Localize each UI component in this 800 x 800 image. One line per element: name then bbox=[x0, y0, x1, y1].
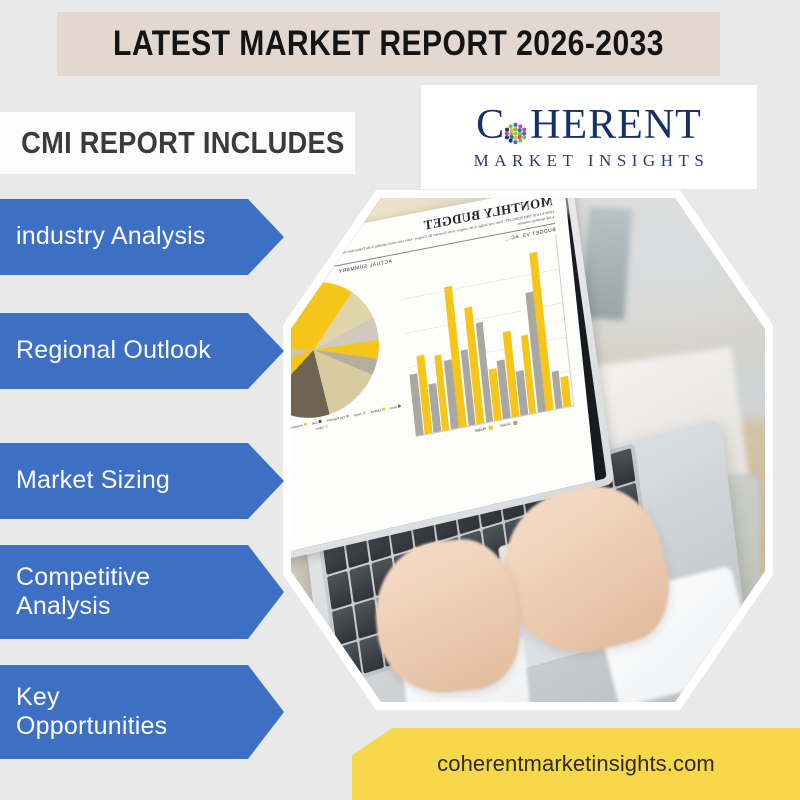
pie-legend-item: Food bbox=[354, 412, 362, 417]
brand-logo-card: C bbox=[421, 85, 757, 189]
brand-logo-tagline: MARKET INSIGHTS bbox=[469, 151, 710, 171]
pie-legend-item: Other bbox=[315, 425, 323, 431]
dotted-globe-icon bbox=[502, 113, 529, 140]
photo-scene: MONTHLY BUDGET HOW TO USE THIS TEMPLATE:… bbox=[291, 198, 765, 702]
brand-logo-wordmark-rest: HERENT bbox=[530, 104, 702, 146]
sidebar-item-key-opportunities[interactable]: Key Opportunities bbox=[0, 665, 284, 759]
pie-legend-item: Rent bbox=[389, 405, 396, 410]
sidebar-item-label: Regional Outlook bbox=[16, 336, 211, 366]
sidebar-item-industry-analysis[interactable]: industry Analysis bbox=[0, 199, 284, 275]
sidebar-item-label: Competitive Analysis bbox=[16, 563, 150, 622]
sidebar-item-label: Market Sizing bbox=[16, 466, 170, 496]
hero-photo: MONTHLY BUDGET HOW TO USE THIS TEMPLATE:… bbox=[283, 190, 773, 710]
sidebar-item-market-sizing[interactable]: Market Sizing bbox=[0, 443, 284, 519]
brand-logo-letter-c: C bbox=[476, 104, 505, 146]
sidebar-item-label: industry Analysis bbox=[16, 222, 206, 252]
pie-legend-item: Gas bbox=[311, 421, 317, 426]
sidebar-item-competitive-analysis[interactable]: Competitive Analysis bbox=[0, 545, 284, 639]
pie-legend-item: Utilities bbox=[370, 408, 380, 414]
pie-legend-item: Car Payment bbox=[326, 415, 345, 423]
hero-photo-clip: MONTHLY BUDGET HOW TO USE THIS TEMPLATE:… bbox=[291, 198, 765, 702]
page-title: LATEST MARKET REPORT 2026-2033 bbox=[103, 12, 673, 76]
sidebar-item-regional-outlook[interactable]: Regional Outlook bbox=[0, 313, 284, 389]
sidebar-item-label: Key Opportunities bbox=[16, 683, 167, 742]
brand-logo-wordmark: C bbox=[476, 104, 702, 146]
bar-legend-actual: Actual bbox=[500, 422, 510, 428]
bar-chart: BUDGET VS. AC... bbox=[397, 227, 579, 489]
section-banner-label: CMI REPORT INCLUDES bbox=[0, 112, 312, 174]
bar-chart-plot bbox=[398, 235, 574, 438]
bar-legend-budget: Budget bbox=[474, 427, 486, 433]
footer-website-url[interactable]: coherentmarketinsights.com bbox=[352, 728, 800, 800]
pie-legend-item: Insurance bbox=[291, 423, 302, 430]
poster-root: LATEST MARKET REPORT 2026-2033 CMI REPOR… bbox=[0, 0, 800, 800]
